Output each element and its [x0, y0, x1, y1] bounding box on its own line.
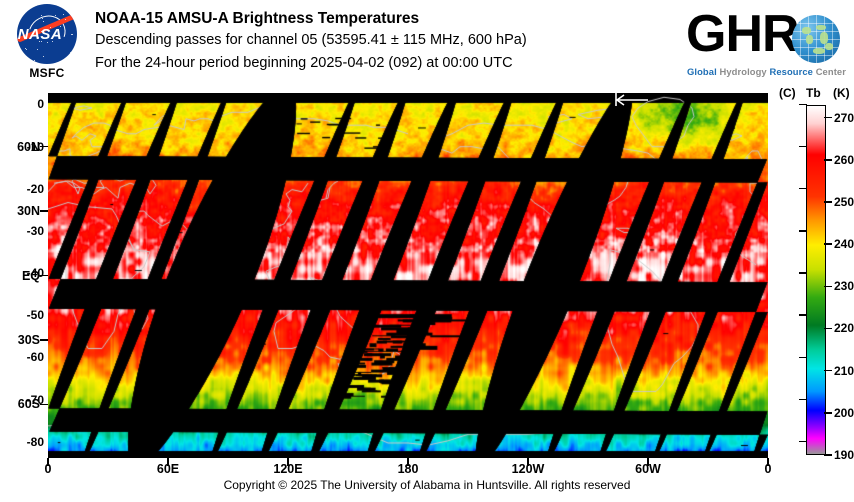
ghrc-logo: GHR Global Hydrology Resource Center: [686, 6, 846, 86]
colorbar-tick-celsius: [799, 230, 807, 232]
latitude-label: 30N: [17, 204, 40, 218]
ghrc-tagline: Global Hydrology Resource Center: [687, 66, 846, 77]
latitude-label: EQ: [22, 269, 40, 283]
longitude-label: 60W: [635, 462, 661, 476]
latitude-tick: [40, 146, 48, 148]
latitude-tick: [40, 275, 48, 277]
latitude-label: 30S: [18, 333, 40, 347]
colorbar-label-kelvin: 230: [834, 279, 854, 293]
colorbar-tick-kelvin: [824, 243, 832, 245]
colorbar-label-kelvin: 220: [834, 321, 854, 335]
colorbar-tick-kelvin: [824, 328, 832, 330]
colorbar-label-kelvin: 260: [834, 153, 854, 167]
colorbar-label-celsius: 0: [37, 97, 44, 111]
colorbar-label-tb: Tb: [806, 86, 821, 100]
brightness-temperature-map: [48, 93, 768, 458]
page-title: NOAA-15 AMSU-A Brightness Temperatures: [95, 8, 655, 29]
colorbar-label-celsius: -60: [27, 350, 44, 364]
colorbar-tick-kelvin: [824, 201, 832, 203]
colorbar-label-kelvin: 250: [834, 195, 854, 209]
colorbar-label-celsius: -50: [27, 308, 44, 322]
longitude-label: 0: [765, 462, 772, 476]
colorbar-label-kelvin: 270: [834, 111, 854, 125]
copyright-text: Copyright © 2025 The University of Alaba…: [224, 478, 631, 492]
colorbar-tick-celsius: [799, 441, 807, 443]
colorbar-unit-celsius: (C): [779, 86, 796, 100]
latitude-label: 60N: [17, 140, 40, 154]
nasa-center-label: MSFC: [10, 66, 84, 80]
ghrc-tagline-word-resource: Resource: [769, 66, 815, 77]
copyright-footer: Copyright © 2025 The University of Alaba…: [0, 478, 854, 492]
latitude-tick: [40, 210, 48, 212]
colorbar-label-kelvin: 200: [834, 406, 854, 420]
colorbar-label-kelvin: 190: [834, 448, 854, 462]
title-block: NOAA-15 AMSU-A Brightness Temperatures D…: [95, 8, 655, 75]
ghrc-tagline-word-center: Center: [816, 66, 846, 77]
colorbar-unit-kelvin: (K): [833, 86, 850, 100]
colorbar-tick-celsius: [799, 272, 807, 274]
colorbar-tick-kelvin: [824, 412, 832, 414]
colorbar-tick-celsius: [799, 104, 807, 106]
colorbar-tick-celsius: [799, 188, 807, 190]
colorbar-tick-kelvin: [824, 454, 832, 456]
longitude-label: 60E: [157, 462, 179, 476]
colorbar-gradient: [807, 106, 825, 454]
colorbar-tick-kelvin: [824, 370, 832, 372]
colorbar-tick-celsius: [799, 357, 807, 359]
colorbar-label-kelvin: 240: [834, 237, 854, 251]
latitude-label: 60S: [18, 397, 40, 411]
colorbar-tick-kelvin: [824, 117, 832, 119]
latitude-tick: [40, 339, 48, 341]
colorbar: [806, 105, 826, 455]
colorbar-label-celsius: -80: [27, 435, 44, 449]
orbit-gap-overlay: [48, 93, 768, 458]
colorbar-label-celsius: -20: [27, 182, 44, 196]
latitude-tick: [40, 404, 48, 406]
colorbar-tick-celsius: [799, 146, 807, 148]
title-subtitle-channel: Descending passes for channel 05 (53595.…: [95, 29, 655, 52]
colorbar-label-kelvin: 210: [834, 364, 854, 378]
nasa-msfc-logo: NASA MSFC: [10, 4, 84, 88]
colorbar-tick-kelvin: [824, 286, 832, 288]
colorbar-label-celsius: -30: [27, 224, 44, 238]
longitude-label: 0: [45, 462, 52, 476]
ghrc-tagline-word-hydrology: Hydrology: [719, 66, 769, 77]
colorbar-tick-celsius: [799, 399, 807, 401]
page-header: NASA MSFC NOAA-15 AMSU-A Brightness Temp…: [0, 0, 854, 92]
longitude-label: 180: [398, 462, 419, 476]
nasa-wordmark: NASA: [10, 26, 70, 43]
longitude-label: 120E: [273, 462, 302, 476]
longitude-label: 120W: [512, 462, 545, 476]
ghrc-wordmark: GHR: [686, 6, 799, 62]
ghrc-tagline-word-global: Global: [687, 66, 719, 77]
colorbar-tick-kelvin: [824, 159, 832, 161]
colorbar-tick-celsius: [799, 314, 807, 316]
swath-start-arrow-icon: [614, 93, 650, 107]
ghrc-globe-icon: [792, 15, 840, 63]
title-subtitle-period: For the 24-hour period beginning 2025-04…: [95, 52, 655, 75]
